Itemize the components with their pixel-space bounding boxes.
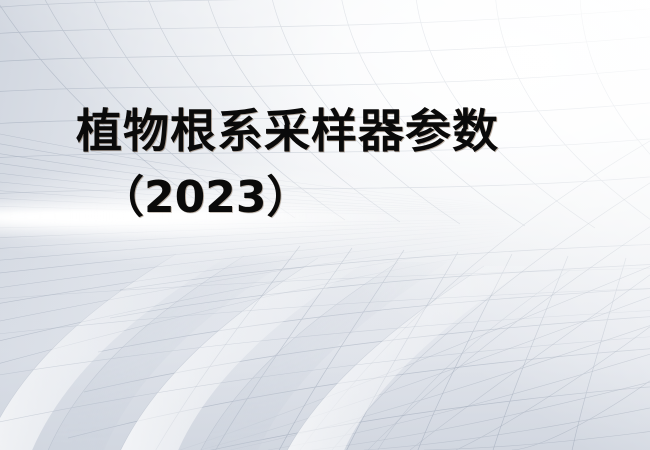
slide-title-main: 植物根系采样器参数	[76, 108, 650, 154]
presentation-slide: 植物根系采样器参数 （2023）	[0, 0, 650, 450]
slide-title-block: 植物根系采样器参数 （2023）	[0, 108, 650, 220]
flowing-wave-bands-bottom	[0, 0, 650, 450]
slide-title-year: （2023）	[100, 176, 650, 220]
